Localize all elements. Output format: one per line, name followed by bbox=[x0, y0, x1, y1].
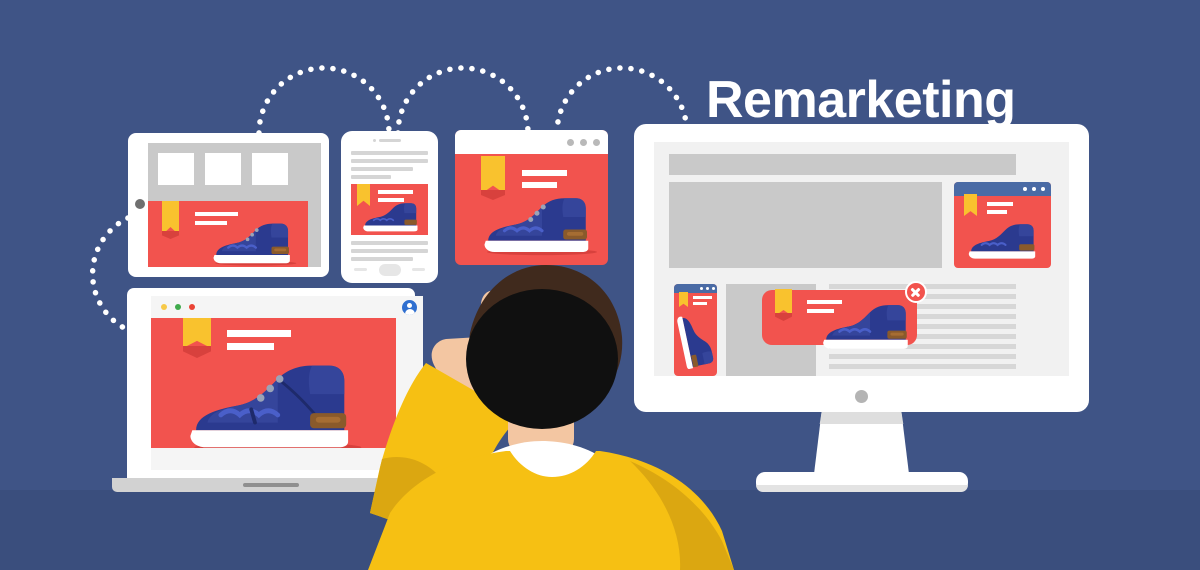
bookmark-ribbon-icon bbox=[183, 318, 211, 348]
tablet-header-box bbox=[158, 153, 194, 185]
bookmark-ribbon-icon bbox=[964, 194, 977, 216]
phone-text-line bbox=[351, 167, 413, 171]
monitor-power-indicator bbox=[855, 390, 868, 403]
tablet-header-box bbox=[252, 153, 288, 185]
tablet-screen bbox=[148, 143, 321, 267]
ad-text-line bbox=[522, 182, 557, 188]
window-dot-icon[interactable] bbox=[1023, 187, 1027, 191]
phone-camera-icon bbox=[373, 139, 376, 142]
ad-text-line bbox=[522, 170, 567, 176]
tablet-home-button[interactable] bbox=[135, 199, 145, 209]
ad-text-line bbox=[195, 212, 238, 216]
bookmark-ribbon-icon bbox=[162, 201, 179, 235]
monitor-stand-base-shadow bbox=[756, 485, 968, 492]
sneaker-product-image bbox=[359, 200, 425, 234]
window-dot-icon[interactable] bbox=[1032, 187, 1036, 191]
ad-text-line bbox=[987, 202, 1013, 206]
tablet-header-box bbox=[205, 153, 241, 185]
ad-text-line bbox=[227, 343, 274, 350]
phone-text-line bbox=[351, 159, 428, 163]
traffic-light-green-icon[interactable] bbox=[175, 304, 181, 310]
popup-ad[interactable] bbox=[762, 290, 917, 345]
paragraph-line bbox=[829, 354, 1016, 359]
page-header-block bbox=[669, 154, 1016, 175]
bookmark-ribbon-icon bbox=[481, 156, 505, 194]
ribbon-shadow bbox=[162, 231, 179, 239]
bookmark-ribbon-icon bbox=[775, 289, 792, 316]
paragraph-line bbox=[829, 364, 1016, 369]
window-dot-icon[interactable] bbox=[580, 139, 587, 146]
phone-ad[interactable] bbox=[351, 184, 428, 235]
window-dot-icon[interactable] bbox=[567, 139, 574, 146]
browser-title-bar bbox=[455, 130, 608, 154]
sneaker-product-image bbox=[817, 300, 919, 353]
ad-text-line bbox=[227, 330, 291, 337]
window-dot-icon[interactable] bbox=[593, 139, 600, 146]
ad-text-line bbox=[987, 210, 1007, 214]
sneaker-product-image bbox=[208, 219, 300, 267]
illustration-stage: Remarketing bbox=[0, 0, 1200, 570]
sneaker-product-image bbox=[964, 220, 1044, 262]
ribbon-shadow bbox=[775, 313, 792, 321]
phone-text-line bbox=[351, 151, 428, 155]
traffic-light-yellow-icon[interactable] bbox=[161, 304, 167, 310]
window-dot-icon[interactable] bbox=[1041, 187, 1045, 191]
page-title: Remarketing bbox=[706, 70, 1016, 130]
monitor-stand-shadow bbox=[814, 412, 909, 424]
phone-text-line bbox=[351, 175, 391, 179]
ad-text-line bbox=[378, 190, 413, 194]
person-viewing-screen bbox=[330, 245, 750, 570]
laptop-trackpad[interactable] bbox=[243, 483, 299, 487]
phone-speaker bbox=[379, 139, 401, 142]
tablet-device[interactable] bbox=[128, 133, 329, 277]
close-icon[interactable] bbox=[905, 281, 927, 303]
tablet-ad[interactable] bbox=[148, 201, 308, 267]
sidebar-ad[interactable] bbox=[954, 182, 1051, 268]
traffic-light-red-icon[interactable] bbox=[189, 304, 195, 310]
